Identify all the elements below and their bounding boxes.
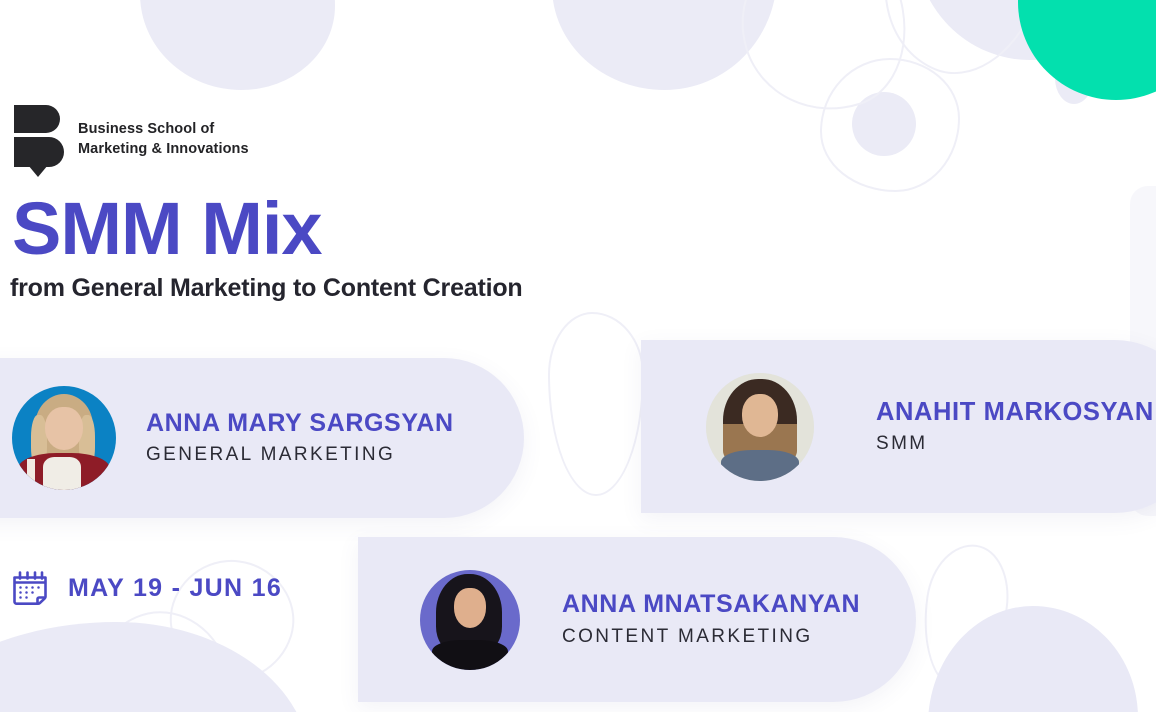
schedule-row: MAY 19 - JUN 16 — [8, 566, 282, 610]
decor-blob-top-right — [915, 0, 1145, 60]
portrait-illustration — [12, 386, 116, 490]
speaker-info-2: ANAHIT MARKOSYAN SMM — [876, 398, 1154, 455]
page-subtitle: from General Marketing to Content Creati… — [10, 274, 523, 303]
speaker-role: CONTENT MARKETING — [562, 626, 860, 648]
speaker-info-3: ANNA MNATSAKANYAN CONTENT MARKETING — [562, 591, 860, 648]
logo-bottom-bar — [14, 137, 64, 167]
decor-outline-peanut-top — [719, 0, 929, 133]
speaker-role: GENERAL MARKETING — [146, 444, 454, 466]
brand-name: Business School of Marketing & Innovatio… — [78, 120, 249, 159]
decor-wave-bottom-left — [0, 622, 310, 712]
logo-speech-tail — [28, 165, 48, 177]
decor-outline-arc-topright — [855, 0, 1070, 96]
b-speech-bubble-logo-icon — [14, 105, 64, 175]
decor-dot-small — [1055, 52, 1093, 104]
logo-top-bar — [14, 105, 60, 133]
speaker-name: ANNA MARY SARGSYAN — [146, 410, 454, 438]
decor-dot-large — [852, 92, 916, 156]
brand-logo: Business School of Marketing & Innovatio… — [14, 105, 249, 175]
speaker-card-1[interactable]: ANNA MARY SARGSYAN GENERAL MARKETING — [0, 358, 524, 518]
speaker-role: SMM — [876, 433, 1154, 455]
calendar-icon — [8, 566, 52, 610]
speaker-card-2[interactable]: ANAHIT MARKOSYAN SMM — [641, 340, 1156, 513]
portrait-illustration — [420, 570, 520, 670]
decor-blob-top-left — [140, 0, 335, 90]
speaker-name: ANAHIT MARKOSYAN — [876, 398, 1154, 426]
portrait-illustration — [706, 373, 814, 481]
avatar-anna-mnatsakanyan — [420, 570, 520, 670]
speaker-name: ANNA MNATSAKANYAN — [562, 591, 860, 619]
speaker-info-1: ANNA MARY SARGSYAN GENERAL MARKETING — [146, 410, 454, 467]
speaker-card-3[interactable]: ANNA MNATSAKANYAN CONTENT MARKETING — [358, 537, 916, 702]
decor-blob-top-center — [552, 0, 777, 90]
decor-outline-loop-right — [820, 58, 960, 192]
avatar-anahit-markosyan — [706, 373, 814, 481]
decor-outline-bottom-right — [914, 539, 1016, 695]
poster-canvas: Business School of Marketing & Innovatio… — [0, 0, 1156, 712]
decor-green-circle — [1018, 0, 1156, 100]
page-title: SMM Mix — [12, 192, 322, 266]
decor-blob-bottom-right — [928, 606, 1138, 712]
avatar-anna-mary-sargsyan — [12, 386, 116, 490]
decor-outline-pear-center — [548, 312, 644, 496]
schedule-dates: MAY 19 - JUN 16 — [68, 574, 282, 603]
